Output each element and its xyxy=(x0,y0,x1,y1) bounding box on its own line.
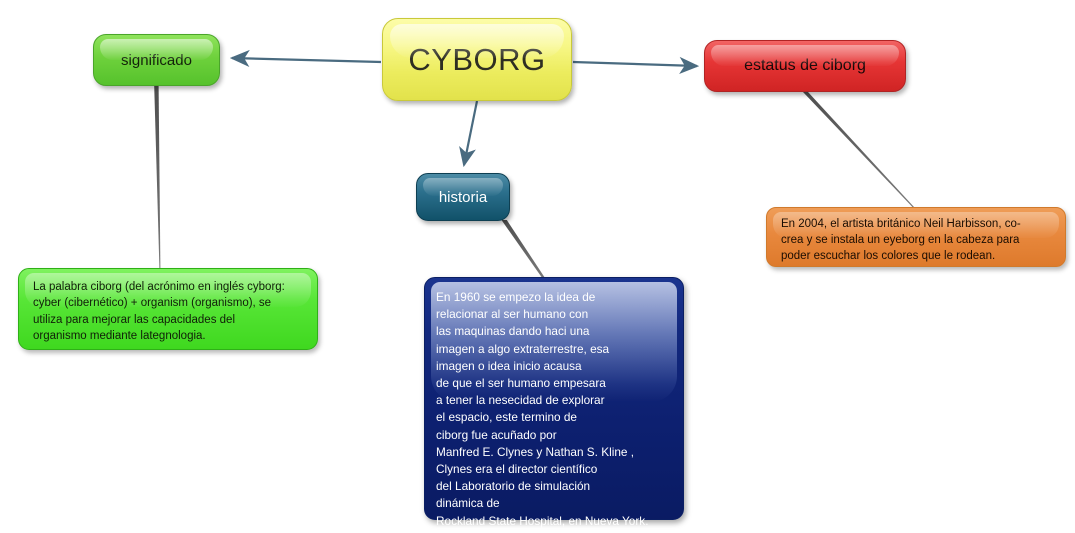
text-line: imagen o idea inicio acausa xyxy=(436,358,673,375)
text-line: poder escuchar los colores que le rodean… xyxy=(781,248,1053,264)
text-line: de que el ser humano empesara xyxy=(436,375,673,392)
textbox-significado-lines: La palabra ciborg (del acrónimo en inglé… xyxy=(33,279,305,344)
connector-root-to-historia xyxy=(464,101,477,165)
node-cyborg-label: CYBORG xyxy=(408,42,545,78)
node-gloss-highlight xyxy=(100,39,213,60)
connector-root-to-estatus xyxy=(573,62,697,66)
node-historia[interactable]: historia xyxy=(416,173,510,221)
text-line: imagen a algo extraterrestre, esa xyxy=(436,341,673,358)
text-line: relacionar al ser humano con xyxy=(436,306,673,323)
text-line: a tener la nesecidad de explorar xyxy=(436,392,673,409)
node-cyborg-root[interactable]: CYBORG xyxy=(382,18,572,101)
text-line: cyber (cibernético) + organism (organism… xyxy=(33,295,305,311)
text-line: utiliza para mejorar las capacidades del xyxy=(33,312,305,328)
text-line: Clynes era el director científico xyxy=(436,461,673,478)
textbox-historia-description[interactable]: En 1960 se empezo la idea de relacionar … xyxy=(424,277,684,520)
text-line: organismo mediante lategnologia. xyxy=(33,328,305,344)
text-line: dinámica de xyxy=(436,495,673,512)
text-line: En 1960 se empezo la idea de xyxy=(436,289,673,306)
mindmap-canvas: CYBORG significado estatus de ciborg his… xyxy=(0,0,1075,533)
node-gloss-highlight xyxy=(711,45,899,66)
text-line: La palabra ciborg (del acrónimo en inglé… xyxy=(33,279,305,295)
text-line: ciborg fue acuñado por xyxy=(436,427,673,444)
connector-estatus-to-text xyxy=(803,92,914,207)
node-significado[interactable]: significado xyxy=(93,34,220,86)
textbox-estatus-description[interactable]: En 2004, el artista británico Neil Harbi… xyxy=(766,207,1066,267)
connector-significado-to-text xyxy=(154,86,160,268)
text-line: Rockland State Hospital, en Nueva York. xyxy=(436,513,673,530)
node-estatus-de-ciborg[interactable]: estatus de ciborg xyxy=(704,40,906,92)
text-line: del Laboratorio de simulación xyxy=(436,478,673,495)
connector-historia-to-text xyxy=(502,220,546,278)
connector-root-to-significado xyxy=(232,58,381,62)
text-line: el espacio, este termino de xyxy=(436,409,673,426)
text-line: las maquinas dando haci una xyxy=(436,323,673,340)
textbox-estatus-lines: En 2004, el artista británico Neil Harbi… xyxy=(781,216,1053,265)
text-line: Manfred E. Clynes y Nathan S. Kline , xyxy=(436,444,673,461)
node-gloss-highlight xyxy=(423,178,503,196)
textbox-significado-description[interactable]: La palabra ciborg (del acrónimo en inglé… xyxy=(18,268,318,350)
textbox-historia-lines: En 1960 se empezo la idea de relacionar … xyxy=(436,289,673,530)
text-line: crea y se instala un eyeborg en la cabez… xyxy=(781,232,1053,248)
text-line: En 2004, el artista británico Neil Harbi… xyxy=(781,216,1053,232)
